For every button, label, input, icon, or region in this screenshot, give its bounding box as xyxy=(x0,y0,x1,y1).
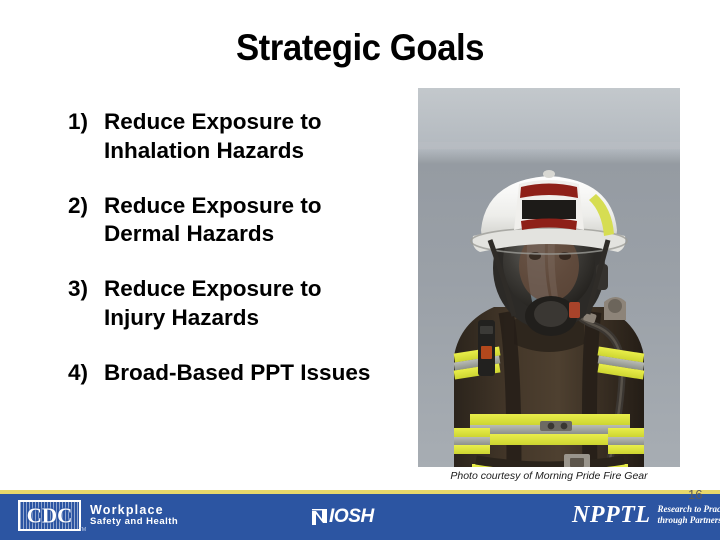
cdc-tagline-line2: Safety and Health xyxy=(90,517,178,527)
list-item-number: 2) xyxy=(68,192,104,221)
slide-canvas: Strategic Goals 1) Reduce Exposure to In… xyxy=(0,0,720,540)
list-item: 1) Reduce Exposure to Inhalation Hazards xyxy=(68,108,413,166)
niosh-logo-mark xyxy=(311,508,328,526)
strategic-goals-list: 1) Reduce Exposure to Inhalation Hazards… xyxy=(68,108,413,388)
list-item-label: Reduce Exposure to Inhalation Hazards xyxy=(104,108,413,166)
firefighter-photo-image xyxy=(418,88,680,467)
list-item-label: Reduce Exposure to Dermal Hazards xyxy=(104,192,413,250)
cdc-tagline: Workplace Safety and Health xyxy=(90,504,178,528)
page-number: 16 xyxy=(688,487,702,502)
trademark-symbol: TM xyxy=(79,527,86,533)
npptl-logo-text: NPPTL xyxy=(572,503,650,527)
list-item: 2) Reduce Exposure to Dermal Hazards xyxy=(68,192,413,250)
cdc-logo-text: CDC xyxy=(20,505,79,526)
photo-caption: Photo courtesy of Morning Pride Fire Gea… xyxy=(418,470,680,482)
cdc-logo-mark: CDC TM xyxy=(18,500,81,531)
niosh-logo: IOSH xyxy=(311,507,374,526)
list-item-label: Broad-Based PPT Issues xyxy=(104,359,413,388)
firefighter-photo xyxy=(418,88,680,467)
list-item: 4) Broad-Based PPT Issues xyxy=(68,359,413,388)
niosh-logo-text: IOSH xyxy=(329,507,374,526)
list-item-number: 4) xyxy=(68,359,104,388)
page-title: Strategic Goals xyxy=(22,27,699,69)
cdc-logo: CDC TM Workplace Safety and Health xyxy=(18,500,178,531)
list-item: 3) Reduce Exposure to Injury Hazards xyxy=(68,275,413,333)
list-item-number: 1) xyxy=(68,108,104,137)
list-item-number: 3) xyxy=(68,275,104,304)
npptl-tagline-line2: through Partnerships xyxy=(657,515,720,526)
list-item-label: Reduce Exposure to Injury Hazards xyxy=(104,275,413,333)
cdc-tagline-line1: Workplace xyxy=(90,504,178,518)
npptl-logo: NPPTL Research to Practice through Partn… xyxy=(572,503,720,527)
npptl-tagline-line1: Research to Practice xyxy=(657,504,720,515)
npptl-tagline: Research to Practice through Partnership… xyxy=(657,504,720,526)
niosh-n-icon xyxy=(311,508,328,526)
